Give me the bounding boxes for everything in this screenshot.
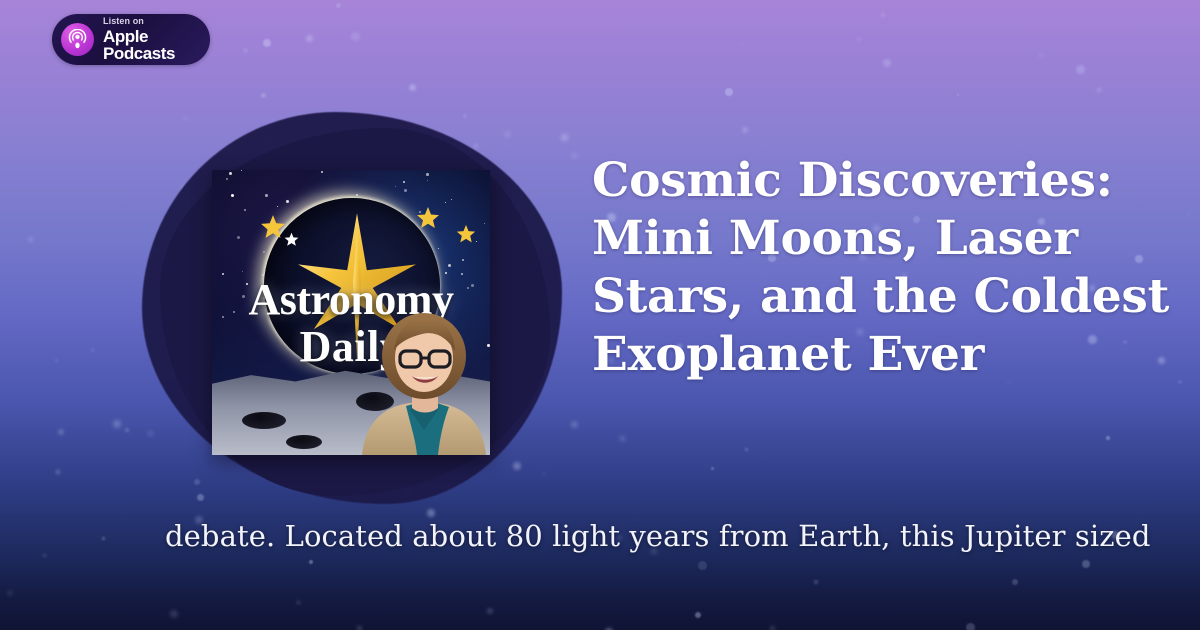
crater-shape [286,435,322,449]
crater-shape [242,412,286,429]
badge-listen-label: Listen on [103,17,196,26]
host-portrait [354,310,490,455]
episode-title: Cosmic Discoveries: Mini Moons, Laser St… [592,152,1122,384]
apple-podcasts-badge[interactable]: Listen on Apple Podcasts [52,14,210,65]
episode-title-line-3: Stars, and the Coldest [592,268,1122,326]
transcript-caption: debate. Located about 80 light years fro… [165,518,1065,554]
episode-title-line-2: Mini Moons, Laser [592,210,1122,268]
small-star-icon [260,214,286,240]
small-star-icon [416,206,440,230]
badge-service-name: Apple Podcasts [103,28,196,62]
podcast-episode-card: Listen on Apple Podcasts [0,0,1200,630]
podcast-cover-art[interactable]: Astronomy Daily [212,170,490,455]
episode-title-line-1: Cosmic Discoveries: [592,152,1122,210]
episode-title-line-4: Exoplanet Ever [592,326,1122,384]
small-star-icon [456,224,476,244]
small-star-icon [284,232,299,247]
apple-podcasts-icon [61,23,94,56]
